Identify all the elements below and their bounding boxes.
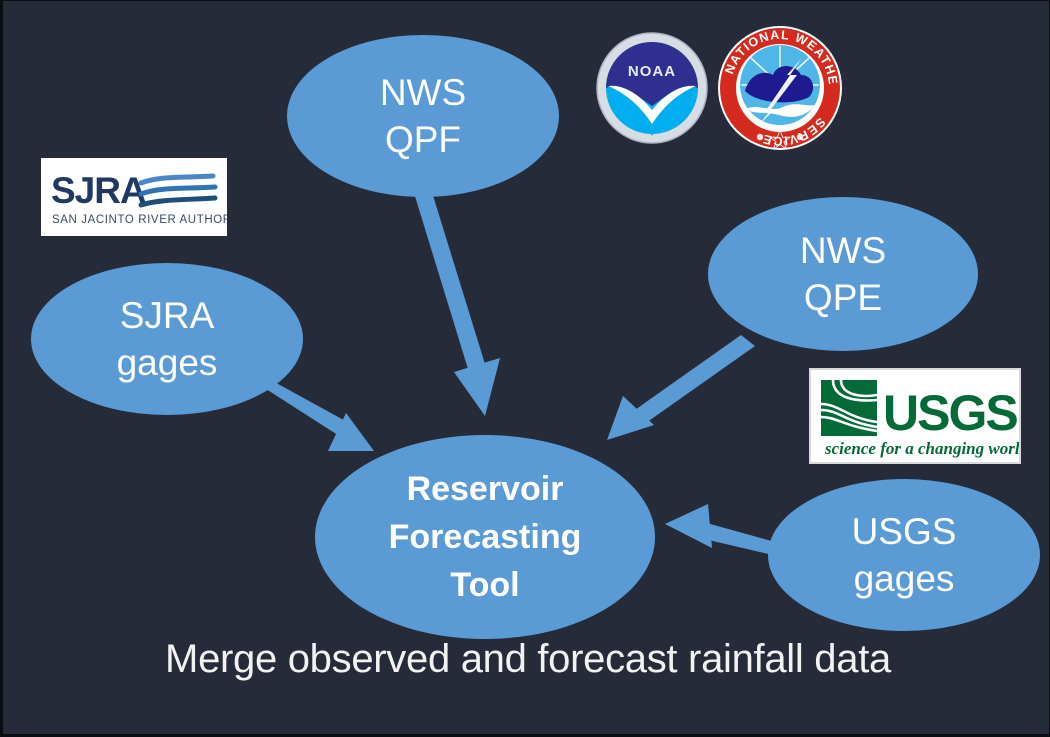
node-reservoir-tool-line-1: Reservoir bbox=[407, 465, 564, 513]
node-nws-qpe-line-2: QPE bbox=[804, 274, 882, 321]
node-usgs-gages-line-2: gages bbox=[854, 555, 955, 602]
node-sjra-gages-line-2: gages bbox=[117, 339, 218, 386]
svg-text:science for a changing world: science for a changing world bbox=[824, 439, 1019, 458]
sjra-logo: SJRA SAN JACINTO RIVER AUTHORITY bbox=[41, 158, 227, 236]
node-sjra-gages-line-1: SJRA bbox=[120, 292, 215, 339]
node-nws-qpf-line-2: QPF bbox=[385, 116, 461, 163]
node-nws-qpe-line-1: NWS bbox=[800, 227, 886, 274]
arrow-nws-qpf-to-tool bbox=[414, 189, 500, 416]
node-usgs-gages[interactable]: USGS gages bbox=[768, 479, 1040, 631]
arrow-nws-qpe-to-tool bbox=[607, 335, 755, 440]
diagram-slide: NWS QPF NWS QPE SJRA gages USGS gages Re… bbox=[0, 0, 1050, 737]
nws-logo-graphic: NATIONAL WEATHER SERVICE bbox=[715, 25, 845, 152]
node-nws-qpe[interactable]: NWS QPE bbox=[708, 197, 978, 351]
node-reservoir-tool-line-3: Tool bbox=[450, 561, 519, 609]
svg-text:SJRA: SJRA bbox=[51, 170, 146, 211]
svg-text:USGS: USGS bbox=[883, 385, 1017, 441]
node-usgs-gages-line-1: USGS bbox=[852, 508, 957, 555]
noaa-logo-acronym: NOAA bbox=[628, 63, 676, 80]
diagram-caption: Merge observed and forecast rainfall dat… bbox=[3, 637, 1050, 682]
noaa-logo: NOAA bbox=[595, 28, 709, 148]
svg-text:SAN JACINTO RIVER AUTHORITY: SAN JACINTO RIVER AUTHORITY bbox=[52, 214, 227, 226]
node-nws-qpf-line-1: NWS bbox=[380, 69, 466, 116]
node-reservoir-forecasting-tool[interactable]: Reservoir Forecasting Tool bbox=[315, 435, 655, 639]
node-nws-qpf[interactable]: NWS QPF bbox=[287, 35, 559, 197]
arrow-usgs-gages-to-tool bbox=[665, 504, 781, 557]
node-reservoir-tool-line-2: Forecasting bbox=[389, 513, 582, 561]
sjra-logo-graphic: SJRA SAN JACINTO RIVER AUTHORITY bbox=[41, 158, 227, 236]
usgs-logo-graphic: USGS science for a changing world bbox=[811, 370, 1019, 462]
nws-logo: NATIONAL WEATHER SERVICE bbox=[715, 25, 845, 152]
noaa-logo-graphic: NOAA bbox=[595, 28, 709, 148]
usgs-logo: USGS science for a changing world bbox=[809, 368, 1021, 464]
node-sjra-gages[interactable]: SJRA gages bbox=[31, 263, 303, 415]
